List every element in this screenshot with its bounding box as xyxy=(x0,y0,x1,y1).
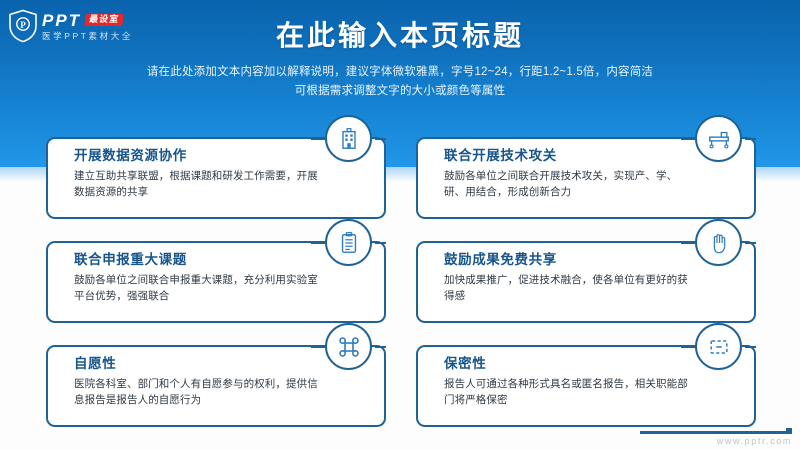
icon-connector-right xyxy=(745,242,756,244)
icon-connector-left xyxy=(681,138,695,140)
icon-connector-right xyxy=(375,138,386,140)
slide-canvas: P PPT 最设室 医学PPT素材大全 在此输入本页标题 请在此处添加文本内容加… xyxy=(0,0,800,450)
card-2[interactable]: 联合开展技术攻关 鼓励各单位之间联合开展技术攻关，实现产、学、研、用结合，形成创… xyxy=(416,137,756,219)
card-body: 鼓励各单位之间联合申报重大课题，充分利用实验室平台优势，强强联合 xyxy=(74,272,324,304)
card-4[interactable]: 鼓励成果免费共享 加快成果推广，促进技术融合，使各单位有更好的获得感 xyxy=(416,241,756,323)
icon-connector-right xyxy=(745,138,756,140)
command-node-icon[interactable] xyxy=(325,323,372,370)
card-6[interactable]: 保密性 报告人可通过各种形式具名或匿名报告，相关职能部门将严格保密 xyxy=(416,345,756,427)
card-title: 开展数据资源协作 xyxy=(74,147,324,165)
card-title: 联合申报重大课题 xyxy=(74,251,324,269)
card-body: 医院各科室、部门和个人有自愿参与的权利，提供信息报告是报告人的自愿行为 xyxy=(74,376,324,408)
icon-connector-left xyxy=(681,346,695,348)
card-body: 建立互助共享联盟，根据课题和研发工作需要，开展数据资源的共享 xyxy=(74,168,324,200)
page-subtitle: 请在此处添加文本内容加以解释说明，建议字体微软雅黑，字号12~24，行距1.2~… xyxy=(100,63,700,101)
subtitle-line-1: 请在此处添加文本内容加以解释说明，建议字体微软雅黑，字号12~24，行距1.2~… xyxy=(100,63,700,82)
cards-grid: 开展数据资源协作 建立互助共享联盟，根据课题和研发工作需要，开展数据资源的共享 … xyxy=(46,137,756,431)
icon-connector-left xyxy=(311,346,325,348)
dashed-selection-icon[interactable] xyxy=(695,323,742,370)
page-title: 在此输入本页标题 xyxy=(0,14,800,54)
card-body: 加快成果推广，促进技术融合，使各单位有更好的获得感 xyxy=(444,272,694,304)
card-title: 联合开展技术攻关 xyxy=(444,147,694,165)
card-body: 报告人可通过各种形式具名或匿名报告，相关职能部门将严格保密 xyxy=(444,376,694,408)
hospital-building-icon[interactable] xyxy=(325,115,372,162)
clipboard-icon[interactable] xyxy=(325,219,372,266)
subtitle-line-2: 可根据需求调整文字的大小或颜色等属性 xyxy=(100,82,700,101)
hand-icon[interactable] xyxy=(695,219,742,266)
card-1[interactable]: 开展数据资源协作 建立互助共享联盟，根据课题和研发工作需要，开展数据资源的共享 xyxy=(46,137,386,219)
icon-connector-right xyxy=(745,346,756,348)
hospital-bed-icon[interactable] xyxy=(695,115,742,162)
card-title: 保密性 xyxy=(444,355,694,373)
card-title: 自愿性 xyxy=(74,355,324,373)
icon-connector-left xyxy=(311,242,325,244)
icon-connector-right xyxy=(375,346,386,348)
footer-divider xyxy=(640,431,792,434)
card-3[interactable]: 联合申报重大课题 鼓励各单位之间联合申报重大课题，充分利用实验室平台优势，强强联… xyxy=(46,241,386,323)
card-body: 鼓励各单位之间联合开展技术攻关，实现产、学、研、用结合，形成创新合力 xyxy=(444,168,694,200)
icon-connector-left xyxy=(681,242,695,244)
icon-connector-right xyxy=(375,242,386,244)
card-title: 鼓励成果免费共享 xyxy=(444,251,694,269)
card-5[interactable]: 自愿性 医院各科室、部门和个人有自愿参与的权利，提供信息报告是报告人的自愿行为 xyxy=(46,345,386,427)
icon-connector-left xyxy=(311,138,325,140)
footer-watermark: www.pptr.com xyxy=(640,436,792,446)
